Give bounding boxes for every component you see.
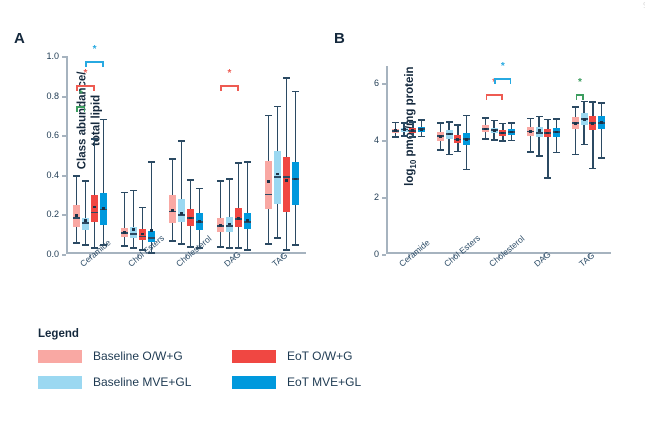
cap-lower	[178, 243, 185, 245]
legend-label-baseline_owg: Baseline O/W+G	[93, 349, 183, 363]
cap-lower	[598, 157, 605, 159]
cap-upper	[446, 121, 453, 123]
mean-marker	[237, 217, 240, 220]
median-line	[73, 217, 80, 219]
box-panel-a-cholesterol-s3	[196, 56, 203, 254]
median-line	[178, 214, 185, 216]
mean-marker	[141, 233, 144, 236]
cap-upper	[392, 122, 399, 124]
box-body	[292, 162, 299, 206]
legend-item-eot_mvegl: EoT MVE+GL	[232, 375, 418, 389]
whisker-line	[229, 179, 231, 248]
cap-upper	[463, 115, 470, 117]
cap-lower	[91, 247, 98, 249]
legend-swatch-baseline_owg	[38, 350, 82, 363]
cap-lower	[536, 155, 543, 157]
mean-marker	[123, 231, 126, 234]
cap-lower	[418, 136, 425, 138]
panel-a-ytick-label: 0.0	[46, 249, 66, 259]
legend-swatch-eot_owg	[232, 350, 276, 363]
mean-marker	[189, 217, 192, 220]
legend-swatch-eot_mvegl	[232, 376, 276, 389]
cap-lower	[169, 240, 176, 242]
cap-lower	[589, 168, 596, 170]
cap-lower	[508, 140, 515, 142]
legend: Legend Baseline O/W+GEoT O/W+GBaseline M…	[38, 328, 418, 389]
cap-lower	[283, 249, 290, 251]
mean-marker	[75, 214, 78, 217]
mean-marker	[439, 135, 442, 138]
significance-star: *	[79, 91, 83, 99]
cap-lower	[527, 151, 534, 153]
panel-b-ytick-label: 0	[374, 249, 386, 259]
legend-item-baseline_owg: Baseline O/W+G	[38, 349, 224, 363]
cap-lower	[73, 242, 80, 244]
box-panel-a-chol-esters-s1	[130, 56, 137, 254]
cap-lower	[235, 247, 242, 249]
cap-lower	[572, 154, 579, 156]
bracket-leg-l	[76, 106, 78, 112]
panel-b-ytick-label: 2	[374, 192, 386, 202]
whisker-line	[94, 139, 96, 248]
box-panel-b-chol-esters-s0	[437, 66, 444, 254]
box-panel-a-tag-s1	[274, 56, 281, 254]
cap-lower	[100, 244, 107, 246]
median-line	[82, 222, 89, 224]
cap-lower	[482, 138, 489, 140]
mean-marker	[228, 223, 231, 226]
box-panel-b-ceramide-s2	[409, 66, 416, 254]
cap-lower	[226, 247, 233, 249]
cap-lower	[274, 237, 281, 239]
box-panel-b-tag-s2	[589, 66, 596, 254]
box-body	[91, 195, 98, 223]
cap-lower	[292, 244, 299, 246]
cap-lower	[463, 169, 470, 171]
bracket-leg-r	[93, 85, 95, 91]
box-panel-b-dag-s3	[553, 66, 560, 254]
bracket-leg-r	[510, 78, 512, 84]
cap-upper	[265, 115, 272, 117]
cap-upper	[409, 121, 416, 123]
mean-marker	[538, 129, 541, 132]
mean-marker	[93, 206, 96, 209]
cap-lower	[499, 140, 506, 142]
cap-lower	[581, 144, 588, 146]
panel-b-y-axis	[386, 66, 388, 254]
cap-upper	[536, 116, 543, 118]
cap-upper	[581, 101, 588, 103]
cap-lower	[401, 135, 408, 137]
legend-items: Baseline O/W+GEoT O/W+GBaseline MVE+GLEo…	[38, 349, 418, 389]
significance-star: *	[93, 46, 97, 54]
median-line	[91, 212, 98, 214]
mean-marker	[555, 131, 558, 134]
median-line	[536, 132, 543, 134]
box-panel-b-ceramide-s3	[418, 66, 425, 254]
mean-marker	[394, 129, 397, 132]
box-panel-a-tag-s0	[265, 56, 272, 254]
cap-upper	[121, 192, 128, 194]
box-panel-a-tag-s2	[283, 56, 290, 254]
mean-marker	[84, 219, 87, 222]
bracket-leg-r	[501, 94, 503, 100]
cap-upper	[187, 179, 194, 181]
cap-upper	[572, 106, 579, 108]
cap-lower	[196, 247, 203, 249]
mean-marker	[546, 132, 549, 135]
median-line	[148, 237, 155, 239]
mean-marker	[219, 224, 222, 227]
legend-title: Legend	[38, 328, 418, 340]
cap-lower	[139, 249, 146, 251]
cap-upper	[283, 77, 290, 79]
significance-star: *	[578, 79, 582, 87]
cap-lower	[454, 151, 461, 153]
mean-marker	[403, 128, 406, 131]
whisker-line	[247, 162, 249, 250]
panel-b-ytick-label: 6	[374, 78, 386, 88]
cap-lower	[244, 249, 251, 251]
cap-lower	[148, 252, 155, 254]
cap-upper	[178, 140, 185, 142]
panel-a-ytick-label: 1.0	[46, 51, 66, 61]
box-panel-a-ceramide-s3	[100, 56, 107, 254]
mean-marker	[267, 180, 270, 183]
significance-star: *	[83, 70, 87, 78]
box-body	[265, 161, 272, 210]
cap-upper	[401, 122, 408, 124]
whisker-line	[601, 103, 603, 158]
cap-upper	[544, 119, 551, 121]
bracket-leg-l	[76, 85, 78, 91]
legend-label-eot_owg: EoT O/W+G	[287, 349, 352, 363]
cap-lower	[82, 244, 89, 246]
box-panel-b-tag-s3	[598, 66, 605, 254]
cap-lower	[409, 136, 416, 138]
box-body	[274, 151, 281, 204]
cap-upper	[292, 91, 299, 93]
mean-marker	[411, 129, 414, 132]
cap-upper	[169, 158, 176, 160]
whisker-line	[220, 181, 222, 247]
median-line	[265, 194, 272, 196]
cap-upper	[491, 120, 498, 122]
mean-marker	[501, 132, 504, 135]
panel-a-ytick-label: 0.2	[46, 209, 66, 219]
panel-b-ytick-label: 4	[374, 135, 386, 145]
box-panel-a-chol-esters-s2	[139, 56, 146, 254]
figure-canvas: A B Class abundance/ total lipid 0.00.20…	[0, 0, 645, 428]
cap-lower	[187, 246, 194, 248]
legend-item-baseline_mvegl: Baseline MVE+GL	[38, 375, 224, 389]
cap-upper	[226, 178, 233, 180]
mean-marker	[150, 229, 153, 232]
mean-marker	[246, 219, 249, 222]
cap-upper	[148, 161, 155, 163]
panel-b-plot-area: log10 pmol/mg protein 0246CeramideChol E…	[386, 66, 611, 254]
cap-upper	[274, 106, 281, 108]
box-panel-a-cholesterol-s2	[187, 56, 194, 254]
mean-marker	[493, 129, 496, 132]
cap-lower	[491, 139, 498, 141]
mean-marker	[294, 178, 297, 181]
legend-swatch-baseline_mvegl	[38, 376, 82, 389]
box-panel-b-ceramide-s1	[401, 66, 408, 254]
panel-letter-a: A	[14, 30, 25, 47]
box-panel-a-dag-s3	[244, 56, 251, 254]
cap-upper	[454, 124, 461, 126]
bracket-leg-l	[486, 94, 488, 100]
cap-lower	[130, 247, 137, 249]
mean-marker	[574, 122, 577, 125]
cap-upper	[217, 180, 224, 182]
median-line	[139, 236, 146, 238]
cap-lower	[446, 154, 453, 156]
cap-upper	[598, 102, 605, 104]
whisker-line	[181, 141, 183, 244]
legend-label-eot_mvegl: EoT MVE+GL	[287, 375, 361, 389]
cap-upper	[244, 161, 251, 163]
box-panel-b-cholesterol-s3	[508, 66, 515, 254]
mean-marker	[276, 173, 279, 176]
cap-upper	[130, 190, 137, 192]
whisker-line	[124, 193, 126, 246]
bracket-leg-l	[576, 94, 578, 100]
panel-a-plot-area: Class abundance/ total lipid 0.00.20.40.…	[66, 56, 306, 254]
cap-lower	[553, 152, 560, 154]
whisker-line	[238, 163, 240, 248]
cap-lower	[392, 136, 399, 138]
cap-upper	[508, 122, 515, 124]
box-panel-a-chol-esters-s0	[121, 56, 128, 254]
cap-lower	[437, 149, 444, 151]
bracket-leg-r	[582, 94, 584, 100]
cap-upper	[100, 119, 107, 121]
mean-marker	[285, 179, 288, 182]
whisker-line	[592, 102, 594, 168]
mean-marker	[510, 131, 513, 134]
mean-marker	[456, 138, 459, 141]
box-panel-a-cholesterol-s0	[169, 56, 176, 254]
cap-upper	[196, 188, 203, 190]
cap-upper	[437, 122, 444, 124]
box-panel-b-dag-s1	[536, 66, 543, 254]
median-line	[274, 176, 281, 178]
mean-marker	[465, 138, 468, 141]
mean-marker	[600, 121, 603, 124]
box-panel-b-dag-s2	[544, 66, 551, 254]
box-body	[283, 157, 290, 212]
significance-star: *	[227, 70, 231, 78]
bracket-leg-r	[102, 61, 104, 67]
legend-label-baseline_mvegl: Baseline MVE+GL	[93, 375, 191, 389]
whisker-line	[575, 107, 577, 155]
mean-marker	[420, 128, 423, 131]
box-panel-b-chol-esters-s2	[454, 66, 461, 254]
box-body	[178, 199, 185, 223]
mean-marker	[529, 130, 532, 133]
box-panel-b-dag-s0	[527, 66, 534, 254]
cap-upper	[418, 119, 425, 121]
panel-a-ytick-label: 0.8	[46, 91, 66, 101]
bracket-leg-r	[84, 106, 86, 112]
cap-upper	[82, 180, 89, 182]
cap-upper	[589, 101, 596, 103]
median-line	[283, 176, 290, 178]
box-panel-b-ceramide-s0	[392, 66, 399, 254]
cap-lower	[265, 243, 272, 245]
cap-lower	[217, 246, 224, 248]
cap-upper	[482, 117, 489, 119]
cap-lower	[121, 245, 128, 247]
box-panel-a-tag-s3	[292, 56, 299, 254]
mean-marker	[484, 128, 487, 131]
cap-upper	[73, 175, 80, 177]
whisker-line	[85, 181, 87, 245]
whisker-line	[133, 191, 135, 248]
bracket-leg-r	[237, 85, 239, 91]
legend-item-eot_owg: EoT O/W+G	[232, 349, 418, 363]
panel-a-ytick-label: 0.4	[46, 170, 66, 180]
mean-marker	[171, 209, 174, 212]
cap-upper	[91, 138, 98, 140]
mean-marker	[591, 122, 594, 125]
bracket-leg-l	[494, 78, 496, 84]
mean-marker	[448, 133, 451, 136]
median-line	[130, 233, 137, 235]
cap-upper	[235, 162, 242, 164]
mean-marker	[132, 228, 135, 231]
cap-upper	[553, 118, 560, 120]
box-panel-a-chol-esters-s3	[148, 56, 155, 254]
cap-upper	[527, 118, 534, 120]
panel-letter-b: B	[334, 30, 345, 47]
whisker-line	[103, 119, 105, 245]
panel-a-ytick-label: 0.6	[46, 130, 66, 140]
box-panel-b-chol-esters-s1	[446, 66, 453, 254]
mean-marker	[198, 220, 201, 223]
box-panel-b-chol-esters-s3	[463, 66, 470, 254]
cap-upper	[139, 207, 146, 209]
panel-a-y-axis	[66, 56, 68, 254]
mean-marker	[102, 207, 105, 210]
significance-star: *	[501, 63, 505, 71]
bracket-leg-l	[220, 85, 222, 91]
cap-upper	[499, 123, 506, 125]
median-line	[226, 225, 233, 227]
cap-lower	[544, 177, 551, 179]
mean-marker	[180, 212, 183, 215]
mean-marker	[583, 118, 586, 121]
box-panel-a-cholesterol-s1	[178, 56, 185, 254]
bracket-leg-l	[85, 61, 87, 67]
